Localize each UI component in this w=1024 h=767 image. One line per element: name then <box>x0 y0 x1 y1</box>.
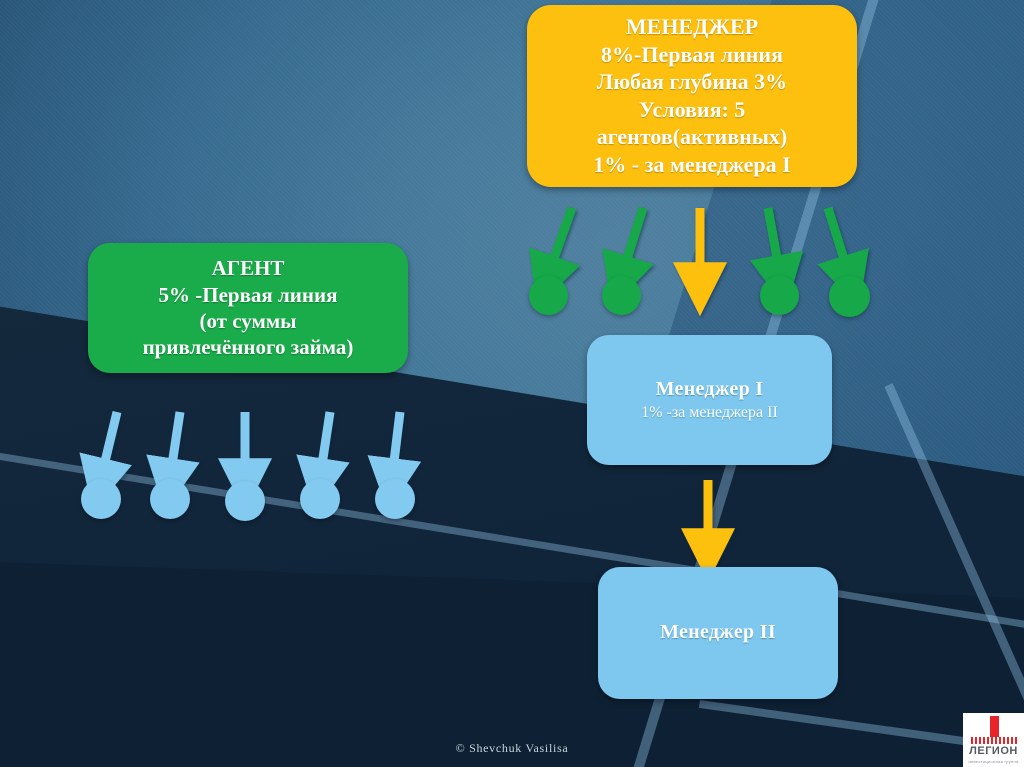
agent-node-green-3 <box>760 276 799 315</box>
manager-box-line-5: агентов(активных) <box>597 123 788 151</box>
agent-box[interactable]: АГЕНТ 5% -Первая линия (от суммы привлеч… <box>88 243 408 373</box>
agent-box-line-2: 5% -Первая линия <box>159 282 338 308</box>
slide-canvas: МЕНЕДЖЕР 8%-Первая линия Любая глубина 3… <box>0 0 1024 767</box>
agent-node-blue-5 <box>375 479 415 519</box>
agent-box-line-1: АГЕНТ <box>212 255 285 281</box>
legion-logo[interactable]: ЛЕГИОН инвестиционная группа <box>963 713 1024 767</box>
manager-box-line-1: МЕНЕДЖЕР <box>626 13 758 41</box>
agent-node-blue-4 <box>300 479 340 519</box>
agent-box-line-4: привлечённого займа) <box>143 334 354 360</box>
agent-node-green-4 <box>829 276 870 317</box>
manager-2-box[interactable]: Менеджер II <box>598 567 838 699</box>
legion-logo-mark-icon <box>971 716 1017 746</box>
manager-box-line-2: 8%-Первая линия <box>601 41 783 69</box>
manager-box-line-3: Любая глубина 3% <box>597 68 787 96</box>
agent-node-green-2 <box>602 276 641 315</box>
legion-logo-name: ЛЕГИОН <box>969 746 1018 757</box>
agent-node-blue-1 <box>81 479 121 519</box>
manager-1-title: Менеджер I <box>656 378 764 401</box>
agent-box-line-3: (от суммы <box>199 308 296 334</box>
manager-1-box[interactable]: Менеджер I 1% -за менеджера II <box>587 335 832 465</box>
manager-1-subtitle: 1% -за менеджера II <box>641 404 778 423</box>
manager-box-line-4: Условия: 5 <box>639 96 746 124</box>
manager-2-title: Менеджер II <box>660 621 776 644</box>
legion-logo-subtitle: инвестиционная группа <box>969 759 1019 764</box>
agent-node-blue-3 <box>225 481 265 521</box>
copyright-text: © Shevchuk Vasilisa <box>0 741 1024 756</box>
manager-box[interactable]: МЕНЕДЖЕР 8%-Первая линия Любая глубина 3… <box>527 5 857 187</box>
agent-node-green-1 <box>529 276 568 315</box>
agent-node-blue-2 <box>150 479 190 519</box>
manager-box-line-6: 1% - за менеджера I <box>593 151 790 179</box>
